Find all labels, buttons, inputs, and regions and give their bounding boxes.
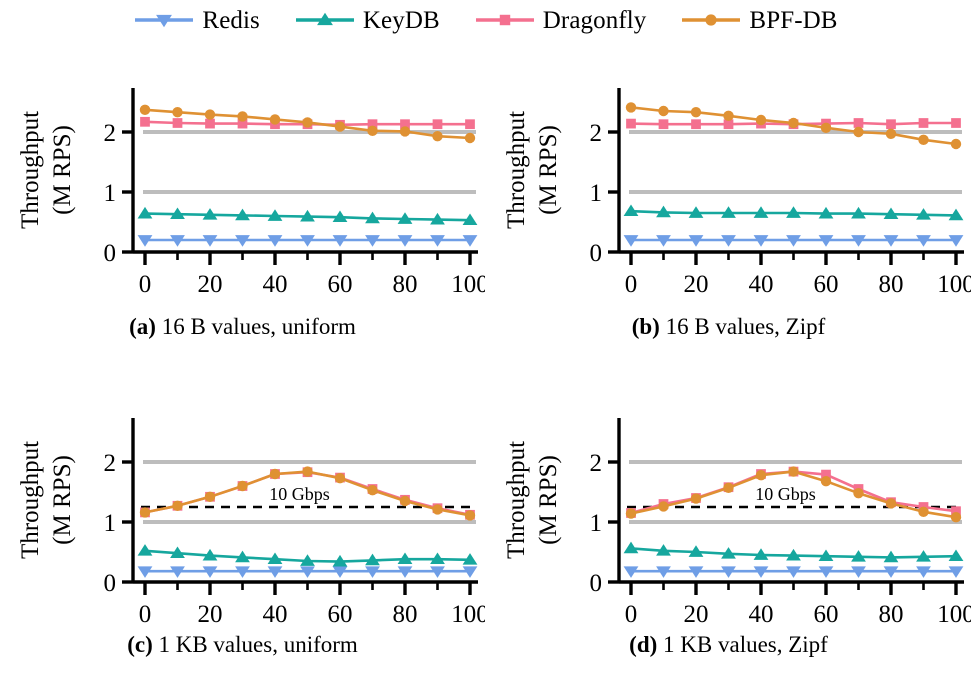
subplot-caption-c: (c) 1 KB values, uniform <box>0 632 485 658</box>
plot-area-a: 012020406080100SET percentThroughput(M R… <box>0 40 485 302</box>
x-tick-label: 20 <box>684 271 709 298</box>
chart-legend: RedisKeyDBDragonflyBPF-DB <box>0 0 971 40</box>
data-point <box>465 133 475 143</box>
data-point <box>205 119 215 129</box>
x-tick-label: 0 <box>139 271 152 298</box>
gridlines <box>629 132 962 192</box>
data-point <box>465 510 475 520</box>
dragonfly-legend-key <box>474 9 536 31</box>
data-point <box>658 501 668 511</box>
x-tick-label: 60 <box>814 271 839 298</box>
data-point <box>951 139 961 149</box>
data-point <box>400 496 410 506</box>
data-point <box>205 109 215 119</box>
data-point <box>465 119 475 129</box>
x-tick-label: 20 <box>198 271 223 298</box>
data-point <box>138 544 153 556</box>
data-point <box>140 105 150 115</box>
data-point <box>853 488 863 498</box>
x-axis-ticks: 020406080100 <box>139 582 485 628</box>
y-tick-label: 2 <box>104 450 117 477</box>
caption-text-b: 16 B values, Zipf <box>666 314 826 339</box>
y-tick-label: 0 <box>104 570 117 597</box>
x-tick-label: 40 <box>263 601 288 628</box>
y-axis-ticks: 012 <box>590 450 620 597</box>
data-point <box>788 466 798 476</box>
data-point <box>237 481 247 491</box>
x-tick-label: 100 <box>937 601 971 628</box>
data-point <box>756 470 766 480</box>
y-axis-title-line2: (M RPS) <box>535 125 562 215</box>
data-point <box>367 126 377 136</box>
data-point <box>691 493 701 503</box>
x-axis-ticks: 020406080100 <box>139 252 485 298</box>
data-point <box>854 118 864 128</box>
x-axis-ticks: 020406080100 <box>625 582 971 628</box>
data-point <box>367 485 377 495</box>
data-point <box>626 102 636 112</box>
x-tick-label: 0 <box>625 601 638 628</box>
x-tick-label: 60 <box>328 601 353 628</box>
data-point <box>433 119 443 129</box>
series-bpf-db <box>626 102 961 149</box>
y-tick-label: 2 <box>590 450 603 477</box>
data-point <box>432 131 442 141</box>
redis-legend-key <box>133 9 195 31</box>
y-tick-label: 1 <box>590 180 603 207</box>
data-point <box>626 119 636 129</box>
y-axis-title-line1: Throughput <box>17 441 44 559</box>
data-point <box>205 492 215 502</box>
bpfdb-legend-key <box>680 9 742 31</box>
data-point <box>821 476 831 486</box>
figure-root: RedisKeyDBDragonflyBPF-DB 01202040608010… <box>0 0 971 693</box>
caption-tag-a: (a) <box>129 314 156 339</box>
data-point <box>691 107 701 117</box>
x-tick-label: 40 <box>749 271 774 298</box>
subplot-panel-a: 012020406080100SET percentThroughput(M R… <box>0 40 485 370</box>
y-axis-ticks: 012 <box>104 120 134 267</box>
legend-label-bpf-db: BPF-DB <box>749 8 837 33</box>
data-point <box>335 473 345 483</box>
y-axis-title-line1: Throughput <box>503 441 530 559</box>
data-point <box>400 126 410 136</box>
data-point <box>918 507 928 517</box>
data-point <box>821 123 831 133</box>
plot-area-d: 10 Gbps012020406080100SET percentThrough… <box>486 370 971 632</box>
data-point <box>302 117 312 127</box>
caption-tag-c: (c) <box>127 632 153 657</box>
legend-label-redis: Redis <box>202 8 259 33</box>
legend-label-dragonfly: Dragonfly <box>543 8 647 33</box>
data-point <box>173 118 183 128</box>
y-tick-label: 2 <box>590 120 603 147</box>
data-point <box>626 508 636 518</box>
data-point <box>853 127 863 137</box>
x-tick-label: 20 <box>684 601 709 628</box>
plot-area-c: 10 Gbps012020406080100SET percentThrough… <box>0 370 485 632</box>
y-axis-title-line1: Throughput <box>17 111 44 229</box>
data-point <box>756 115 766 125</box>
caption-tag-b: (b) <box>632 314 660 339</box>
series-redis <box>624 235 964 247</box>
y-tick-label: 0 <box>590 570 603 597</box>
caption-text-a: 16 B values, uniform <box>162 314 356 339</box>
y-axis-ticks: 012 <box>104 450 134 597</box>
x-tick-label: 100 <box>451 601 485 628</box>
caption-tag-d: (d) <box>629 632 657 657</box>
data-point <box>951 118 961 128</box>
y-tick-label: 1 <box>104 180 117 207</box>
data-point <box>270 114 280 124</box>
data-point <box>172 501 182 511</box>
x-tick-label: 40 <box>749 601 774 628</box>
subplot-caption-b: (b) 16 B values, Zipf <box>486 314 971 340</box>
x-tick-label: 100 <box>451 271 485 298</box>
series-keydb <box>138 544 478 566</box>
y-axis-title-line1: Throughput <box>503 111 530 229</box>
data-point <box>723 483 733 493</box>
plot-area-b: 012020406080100SET percentThroughput(M R… <box>486 40 971 302</box>
chart-svg-panel-d: 10 Gbps012020406080100SET percentThrough… <box>486 370 971 632</box>
data-point <box>723 111 733 121</box>
data-point <box>237 111 247 121</box>
legend-item-dragonfly[interactable]: Dragonfly <box>474 8 647 33</box>
data-point <box>919 118 929 128</box>
x-tick-label: 80 <box>879 271 904 298</box>
data-point <box>886 119 896 129</box>
data-point <box>886 129 896 139</box>
y-axis-title-line2: (M RPS) <box>49 455 76 545</box>
gridlines <box>143 132 476 192</box>
axis-spines <box>619 88 964 252</box>
legend-item-bpf-db[interactable]: BPF-DB <box>680 8 837 33</box>
x-tick-label: 60 <box>328 271 353 298</box>
series-keydb <box>138 207 478 225</box>
series-redis <box>138 566 478 578</box>
annotation-label: 10 Gbps <box>755 484 816 504</box>
caption-text-c: 1 KB values, uniform <box>158 632 357 657</box>
data-point <box>691 119 701 129</box>
chart-svg-panel-b: 012020406080100SET percentThroughput(M R… <box>486 40 971 302</box>
data-point <box>659 119 669 129</box>
data-point <box>658 106 668 116</box>
x-tick-label: 20 <box>198 601 223 628</box>
legend-item-redis[interactable]: Redis <box>133 8 259 33</box>
data-point <box>886 498 896 508</box>
x-tick-label: 80 <box>393 271 418 298</box>
series-keydb <box>624 542 964 563</box>
x-tick-label: 80 <box>879 601 904 628</box>
y-tick-label: 2 <box>104 120 117 147</box>
data-point <box>788 118 798 128</box>
caption-text-d: 1 KB values, Zipf <box>663 632 828 657</box>
x-tick-label: 80 <box>393 601 418 628</box>
y-tick-label: 1 <box>104 510 117 537</box>
data-point <box>951 512 961 522</box>
x-axis-ticks: 020406080100 <box>625 252 971 298</box>
series-redis <box>624 566 964 578</box>
series-redis <box>138 235 478 247</box>
y-tick-label: 0 <box>590 240 603 267</box>
legend-item-keydb[interactable]: KeyDB <box>294 8 440 33</box>
annotation-label: 10 Gbps <box>269 484 330 504</box>
subplot-panel-c: 10 Gbps012020406080100SET percentThrough… <box>0 370 485 700</box>
subplot-panel-d: 10 Gbps012020406080100SET percentThrough… <box>486 370 971 700</box>
y-tick-label: 1 <box>590 510 603 537</box>
data-point <box>140 507 150 517</box>
x-tick-label: 0 <box>139 601 152 628</box>
data-point <box>432 504 442 514</box>
data-point <box>624 542 639 554</box>
y-tick-label: 0 <box>104 240 117 267</box>
x-tick-label: 60 <box>814 601 839 628</box>
subplot-panel-b: 012020406080100SET percentThroughput(M R… <box>486 40 971 370</box>
data-point <box>302 466 312 476</box>
data-point <box>918 135 928 145</box>
x-tick-label: 0 <box>625 271 638 298</box>
y-axis-title-line2: (M RPS) <box>49 125 76 215</box>
x-tick-label: 40 <box>263 271 288 298</box>
chart-svg-panel-a: 012020406080100SET percentThroughput(M R… <box>0 40 485 302</box>
x-tick-label: 100 <box>937 271 971 298</box>
y-axis-title-line2: (M RPS) <box>535 455 562 545</box>
keydb-legend-key <box>294 9 356 31</box>
y-axis-ticks: 012 <box>590 120 620 267</box>
legend-label-keydb: KeyDB <box>363 8 440 33</box>
data-point <box>140 117 150 127</box>
chart-svg-panel-c: 10 Gbps012020406080100SET percentThrough… <box>0 370 485 632</box>
data-point <box>270 469 280 479</box>
ten-gbps-threshold: 10 Gbps <box>141 484 476 507</box>
data-point <box>172 107 182 117</box>
series-keydb <box>624 204 964 220</box>
data-point <box>335 121 345 131</box>
subplot-caption-d: (d) 1 KB values, Zipf <box>486 632 971 658</box>
subplot-caption-a: (a) 16 B values, uniform <box>0 314 485 340</box>
